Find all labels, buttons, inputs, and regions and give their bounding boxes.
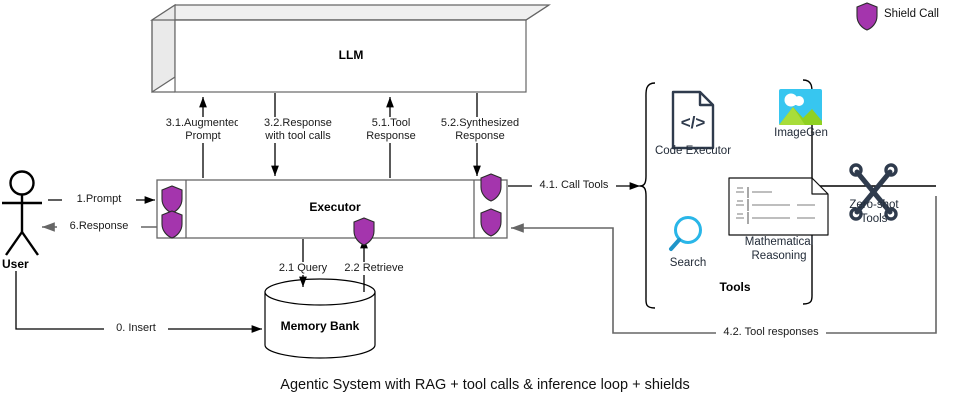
edge-insert xyxy=(16,263,262,329)
tool-label-code-executor: Code Executor xyxy=(648,145,738,159)
edge-label-query: 2.1 Query xyxy=(269,262,337,275)
shield-icon-legend xyxy=(857,3,877,30)
shield-icon-memory-retrieve xyxy=(354,218,374,245)
edge-label-response-with-tool-calls: 3.2.Response with tool calls xyxy=(238,117,358,143)
image-thumbnail-icon xyxy=(779,89,822,125)
memory-bank-label: Memory Bank xyxy=(270,320,370,333)
diagram-connectors: </> xyxy=(0,0,970,411)
edge-label-synthesized-response: 5.2.Synthesized Response xyxy=(425,117,535,143)
legend-label: Shield Call xyxy=(884,8,939,20)
diagram-canvas: </> xyxy=(0,0,970,411)
tools-group-label: Tools xyxy=(700,281,770,294)
tool-label-mathematical-reasoning: Mathematical Reasoning xyxy=(730,236,828,263)
magnifier-icon xyxy=(671,218,701,250)
executor-label: Executor xyxy=(280,201,390,214)
code-document-icon: </> xyxy=(673,92,713,148)
tools-left-bracket xyxy=(640,83,655,308)
edge-label-response: 6.Response xyxy=(57,220,141,233)
llm-label: LLM xyxy=(301,49,401,62)
user-label: User xyxy=(2,258,46,271)
edge-label-tool-response: 5.1.Tool Response xyxy=(345,117,437,143)
svg-text:</>: </> xyxy=(681,113,706,132)
edge-label-prompt: 1.Prompt xyxy=(62,193,136,206)
edge-label-call-tools: 4.1. Call Tools xyxy=(532,179,616,192)
tool-label-imagegen: ImageGen xyxy=(766,127,836,141)
edge-label-insert: 0. Insert xyxy=(104,322,168,335)
edge-label-tool-responses: 4.2. Tool responses xyxy=(716,326,826,339)
edge-label-retrieve: 2.2 Retrieve xyxy=(336,262,412,275)
tool-label-search: Search xyxy=(657,257,719,271)
formula-document-icon xyxy=(729,178,828,235)
user-stick-figure xyxy=(2,172,42,256)
diagram-caption: Agentic System with RAG + tool calls & i… xyxy=(0,377,970,393)
tool-label-zero-shot-tools: Zero-shot Tools xyxy=(840,199,908,226)
